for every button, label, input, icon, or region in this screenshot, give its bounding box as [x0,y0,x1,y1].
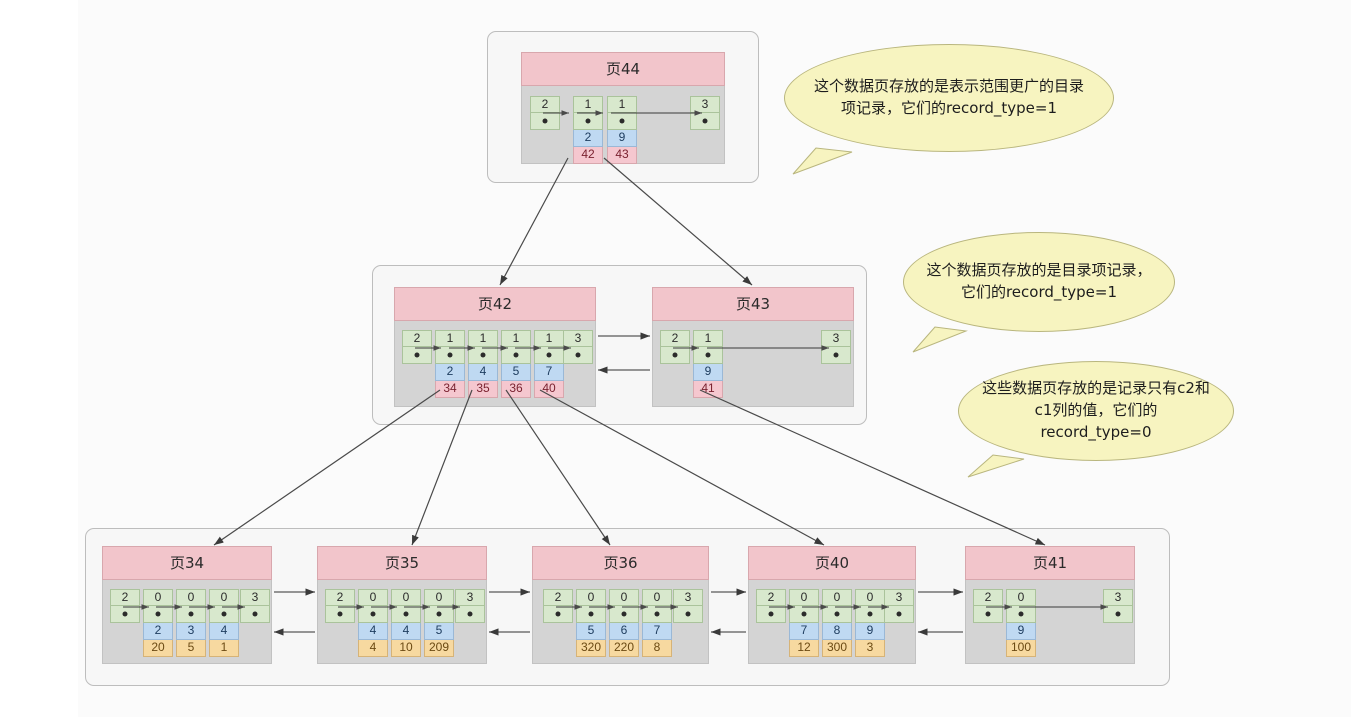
record-next-pointer [501,347,531,364]
page-41-record-0[interactable]: 0 9 100 [1006,589,1036,657]
record-type: 1 [607,96,637,113]
record-c2: 300 [822,640,852,657]
record-c1: 5 [424,623,454,640]
page-43-supremum: 3 [821,330,851,364]
callout-leaf-text: 这些数据页存放的是记录只有c2和c1列的值，它们的record_type=0 [981,378,1211,443]
pointer-dot-icon [437,612,442,617]
record-type: 0 [143,589,173,606]
record-c1: 4 [391,623,421,640]
page-42-body: 2 1 2 34 1 4 35 1 5 36 1 7 40 3 [394,321,596,407]
pointer-dot-icon [156,612,161,617]
record-type: 0 [642,589,672,606]
pointer-dot-icon [655,612,660,617]
record-type: 0 [391,589,421,606]
pointer-dot-icon [589,612,594,617]
record-next-pointer [642,606,672,623]
infimum-next-pointer [110,606,140,623]
record-c1: 3 [176,623,206,640]
record-c2: 5 [176,640,206,657]
record-next-pointer [358,606,388,623]
page-34-supremum: 3 [240,589,270,623]
record-next-pointer [1006,606,1036,623]
supremum-type: 3 [884,589,914,606]
record-next-pointer [573,113,603,130]
pointer-dot-icon [404,612,409,617]
pointer-dot-icon [802,612,807,617]
page-35-title: 页35 [317,546,487,580]
page-44-record-0[interactable]: 1 2 42 [573,96,603,164]
record-page-number: 42 [573,147,603,164]
pointer-dot-icon [1019,612,1024,617]
page-42-infimum: 2 [402,330,432,364]
record-key: 2 [435,364,465,381]
supremum-marker [240,606,270,623]
record-type: 0 [1006,589,1036,606]
page-35-record-2[interactable]: 0 5 209 [424,589,454,657]
page-35-supremum: 3 [455,589,485,623]
page-40[interactable]: 页40 2 0 7 12 0 8 300 0 9 3 3 [748,546,916,664]
supremum-marker [821,347,851,364]
supremum-marker [673,606,703,623]
record-key: 4 [468,364,498,381]
record-c2: 10 [391,640,421,657]
page-35-body: 2 0 4 4 0 4 10 0 5 209 3 [317,580,487,664]
page-36-infimum: 2 [543,589,573,623]
page-42-record-3[interactable]: 1 7 40 [534,330,564,398]
page-40-record-1[interactable]: 0 8 300 [822,589,852,657]
pointer-dot-icon [706,353,711,358]
infimum-type: 2 [543,589,573,606]
pointer-dot-icon [769,612,774,617]
record-next-pointer [609,606,639,623]
record-type: 1 [573,96,603,113]
page-42-title: 页42 [394,287,596,321]
page-41[interactable]: 页41 2 0 9 100 3 [965,546,1135,664]
pointer-dot-icon [338,612,343,617]
page-44[interactable]: 页44 2 1 2 42 1 9 43 3 [521,52,725,164]
record-c1: 6 [609,623,639,640]
pointer-dot-icon [622,612,627,617]
page-43-infimum: 2 [660,330,690,364]
infimum-type: 2 [756,589,786,606]
page-43-body: 2 1 9 41 3 [652,321,854,407]
record-next-pointer [391,606,421,623]
page-34-record-2[interactable]: 0 4 1 [209,589,239,657]
record-type: 0 [209,589,239,606]
infimum-type: 2 [973,589,1003,606]
page-40-body: 2 0 7 12 0 8 300 0 9 3 3 [748,580,916,664]
page-43[interactable]: 页43 2 1 9 41 3 [652,287,854,407]
record-next-pointer [607,113,637,130]
page-41-infimum: 2 [973,589,1003,623]
pointer-dot-icon [703,119,708,124]
page-40-record-2[interactable]: 0 9 3 [855,589,885,657]
record-c2: 100 [1006,640,1036,657]
page-36-record-0[interactable]: 0 5 320 [576,589,606,657]
record-next-pointer [435,347,465,364]
record-c2: 1 [209,640,239,657]
record-type: 0 [358,589,388,606]
pointer-dot-icon [371,612,376,617]
infimum-type: 2 [530,96,560,113]
record-page-number: 34 [435,381,465,398]
record-next-pointer [855,606,885,623]
record-page-number: 36 [501,381,531,398]
pointer-dot-icon [253,612,258,617]
supremum-type: 3 [240,589,270,606]
record-c1: 5 [576,623,606,640]
page-44-body: 2 1 2 42 1 9 43 3 [521,86,725,164]
record-c2: 8 [642,640,672,657]
page-34-record-1[interactable]: 0 3 5 [176,589,206,657]
pointer-dot-icon [620,119,625,124]
record-type: 1 [501,330,531,347]
record-c2: 209 [424,640,454,657]
page-34-infimum: 2 [110,589,140,623]
infimum-next-pointer [756,606,786,623]
infimum-type: 2 [325,589,355,606]
record-c1: 4 [209,623,239,640]
record-type: 0 [176,589,206,606]
pointer-dot-icon [868,612,873,617]
record-type: 0 [822,589,852,606]
pointer-dot-icon [586,119,591,124]
supremum-marker [690,113,720,130]
supremum-type: 3 [1103,589,1133,606]
record-c1: 8 [822,623,852,640]
record-next-pointer [468,347,498,364]
page-42-record-0[interactable]: 1 2 34 [435,330,465,398]
record-type: 0 [576,589,606,606]
pointer-dot-icon [468,612,473,617]
callout-root-text: 这个数据页存放的是表示范围更广的目录项记录，它们的record_type=1 [807,76,1091,120]
page-34-body: 2 0 2 20 0 3 5 0 4 1 3 [102,580,272,664]
supremum-type: 3 [455,589,485,606]
record-c2: 220 [609,640,639,657]
pointer-dot-icon [481,353,486,358]
pointer-dot-icon [543,119,548,124]
page-44-supremum: 3 [690,96,720,130]
record-key: 9 [693,364,723,381]
page-43-title: 页43 [652,287,854,321]
record-c1: 7 [642,623,672,640]
record-type: 1 [693,330,723,347]
infimum-next-pointer [660,347,690,364]
page-35-record-0[interactable]: 0 4 4 [358,589,388,657]
page-34-record-0[interactable]: 0 2 20 [143,589,173,657]
record-page-number: 40 [534,381,564,398]
record-next-pointer [143,606,173,623]
record-type: 0 [609,589,639,606]
record-c2: 12 [789,640,819,657]
callout-leaf: 这些数据页存放的是记录只有c2和c1列的值，它们的record_type=0 [958,361,1234,461]
record-next-pointer [576,606,606,623]
page-36-record-2[interactable]: 0 7 8 [642,589,672,657]
record-type: 0 [855,589,885,606]
pointer-dot-icon [189,612,194,617]
record-c2: 320 [576,640,606,657]
pointer-dot-icon [673,353,678,358]
page-36-supremum: 3 [673,589,703,623]
pointer-dot-icon [835,612,840,617]
supremum-type: 3 [821,330,851,347]
record-next-pointer [693,347,723,364]
supremum-marker [455,606,485,623]
page-41-supremum: 3 [1103,589,1133,623]
pointer-dot-icon [514,353,519,358]
pointer-dot-icon [986,612,991,617]
page-41-body: 2 0 9 100 3 [965,580,1135,664]
callout-root: 这个数据页存放的是表示范围更广的目录项记录，它们的record_type=1 [784,44,1114,152]
page-42-record-2[interactable]: 1 5 36 [501,330,531,398]
page-36-record-1[interactable]: 0 6 220 [609,589,639,657]
record-c1: 4 [358,623,388,640]
supremum-type: 3 [690,96,720,113]
page-35-infimum: 2 [325,589,355,623]
supremum-type: 3 [673,589,703,606]
record-key: 5 [501,364,531,381]
supremum-marker [563,347,593,364]
infimum-next-pointer [543,606,573,623]
record-c2: 3 [855,640,885,657]
page-40-title: 页40 [748,546,916,580]
supremum-marker [1103,606,1133,623]
infimum-next-pointer [325,606,355,623]
pointer-dot-icon [686,612,691,617]
record-next-pointer [209,606,239,623]
pointer-dot-icon [547,353,552,358]
record-c1: 9 [1006,623,1036,640]
pointer-dot-icon [1116,612,1121,617]
pointer-dot-icon [834,353,839,358]
pointer-dot-icon [556,612,561,617]
infimum-type: 2 [402,330,432,347]
record-next-pointer [789,606,819,623]
supremum-type: 3 [563,330,593,347]
record-c1: 9 [855,623,885,640]
record-type: 1 [435,330,465,347]
page-44-title: 页44 [521,52,725,86]
page-40-record-0[interactable]: 0 7 12 [789,589,819,657]
page-42[interactable]: 页42 2 1 2 34 1 4 35 1 5 36 1 7 40 [394,287,596,407]
canvas-left-margin [0,0,78,717]
record-type: 1 [534,330,564,347]
page-36[interactable]: 页36 2 0 5 320 0 6 220 0 7 8 3 [532,546,709,664]
record-c2: 20 [143,640,173,657]
page-42-supremum: 3 [563,330,593,364]
callout-internal-text: 这个数据页存放的是目录项记录，它们的record_type=1 [926,260,1152,304]
pointer-dot-icon [415,353,420,358]
record-c2: 4 [358,640,388,657]
record-page-number: 35 [468,381,498,398]
record-key: 9 [607,130,637,147]
page-44-record-1[interactable]: 1 9 43 [607,96,637,164]
record-next-pointer [534,347,564,364]
page-41-title: 页41 [965,546,1135,580]
page-36-title: 页36 [532,546,709,580]
record-type: 0 [789,589,819,606]
record-next-pointer [424,606,454,623]
page-40-supremum: 3 [884,589,914,623]
infimum-next-pointer [530,113,560,130]
pointer-dot-icon [222,612,227,617]
page-34-title: 页34 [102,546,272,580]
page-40-infimum: 2 [756,589,786,623]
record-key: 7 [534,364,564,381]
pointer-dot-icon [123,612,128,617]
page-35[interactable]: 页35 2 0 4 4 0 4 10 0 5 209 3 [317,546,487,664]
record-key: 2 [573,130,603,147]
page-34[interactable]: 页34 2 0 2 20 0 3 5 0 4 1 3 [102,546,272,664]
record-page-number: 41 [693,381,723,398]
record-type: 0 [424,589,454,606]
record-page-number: 43 [607,147,637,164]
infimum-type: 2 [660,330,690,347]
pointer-dot-icon [897,612,902,617]
infimum-next-pointer [402,347,432,364]
page-42-record-1[interactable]: 1 4 35 [468,330,498,398]
pointer-dot-icon [576,353,581,358]
page-35-record-1[interactable]: 0 4 10 [391,589,421,657]
record-c1: 7 [789,623,819,640]
record-next-pointer [822,606,852,623]
infimum-next-pointer [973,606,1003,623]
callout-internal: 这个数据页存放的是目录项记录，它们的record_type=1 [903,232,1175,332]
record-c1: 2 [143,623,173,640]
page-43-record-0[interactable]: 1 9 41 [693,330,723,398]
infimum-type: 2 [110,589,140,606]
record-type: 1 [468,330,498,347]
page-44-infimum: 2 [530,96,560,130]
pointer-dot-icon [448,353,453,358]
page-36-body: 2 0 5 320 0 6 220 0 7 8 3 [532,580,709,664]
supremum-marker [884,606,914,623]
record-next-pointer [176,606,206,623]
